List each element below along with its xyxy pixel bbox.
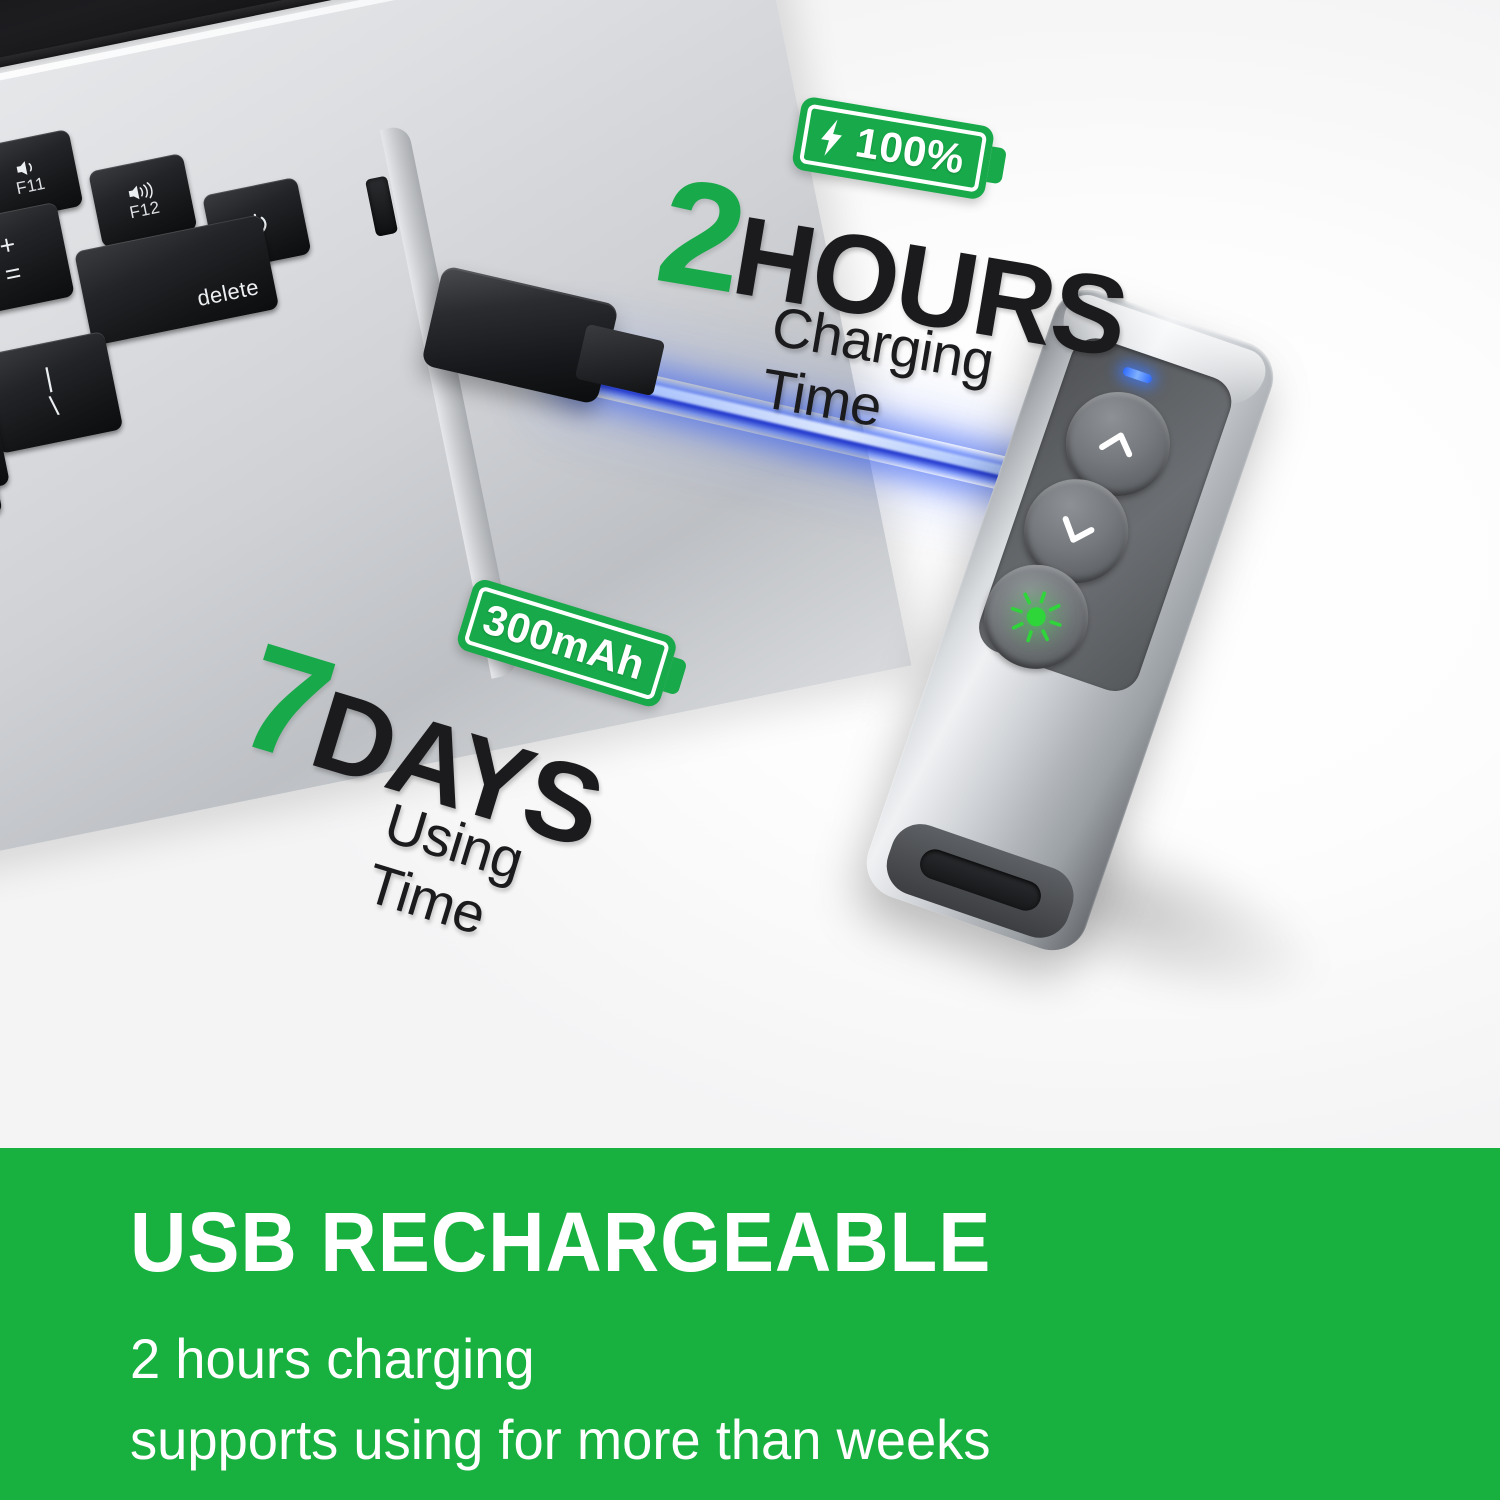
product-photo: F11 F12 —	[0, 0, 1500, 1148]
key-equals-label: =	[3, 258, 25, 290]
banner-line-1: 2 hours charging	[130, 1318, 1459, 1399]
key-pipe-label: |	[42, 363, 55, 393]
key-delete-label: delete	[195, 274, 261, 312]
key-f11-label: F11	[15, 175, 47, 199]
banner-title: USB RECHARGEABLE	[130, 1200, 1404, 1284]
product-marketing-image: F11 F12 —	[0, 0, 1500, 1500]
key-backslash-label: \	[48, 392, 62, 422]
lightning-bolt-icon	[813, 115, 850, 161]
sun-burst-icon	[999, 580, 1073, 654]
feature-banner: USB RECHARGEABLE 2 hours charging suppor…	[0, 1148, 1500, 1500]
banner-line-2: supports using for more than weeks	[130, 1399, 1459, 1480]
battery-badge-label: 100%	[852, 118, 968, 183]
chevron-down-icon	[1043, 498, 1109, 564]
key-f12-label: F12	[128, 198, 162, 222]
battery-badge-100: 100%	[791, 96, 996, 201]
